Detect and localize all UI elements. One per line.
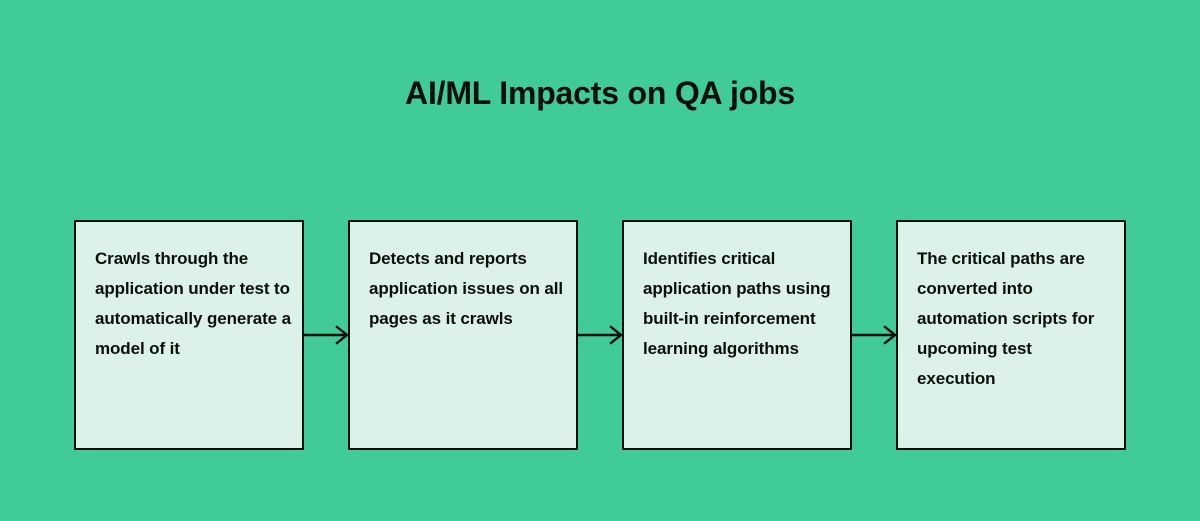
page-title: AI/ML Impacts on QA jobs	[0, 72, 1200, 114]
flow-step-4: The critical paths are converted into au…	[896, 220, 1126, 450]
process-flow-diagram: Crawls through the application under tes…	[74, 220, 1126, 450]
arrow-right-icon	[302, 324, 348, 346]
flow-step-3-label: Identifies critical application paths us…	[643, 244, 839, 364]
flow-step-4-label: The critical paths are converted into au…	[917, 244, 1113, 394]
flow-connector-3-to-4	[850, 324, 896, 346]
arrow-right-icon	[850, 324, 896, 346]
flow-connector-1-to-2	[302, 324, 348, 346]
flow-step-1-label: Crawls through the application under tes…	[95, 244, 291, 364]
flow-connector-2-to-3	[576, 324, 622, 346]
flow-step-2: Detects and reports application issues o…	[348, 220, 578, 450]
flow-step-2-label: Detects and reports application issues o…	[369, 244, 565, 334]
arrow-right-icon	[576, 324, 622, 346]
flow-step-3: Identifies critical application paths us…	[622, 220, 852, 450]
flow-step-1: Crawls through the application under tes…	[74, 220, 304, 450]
